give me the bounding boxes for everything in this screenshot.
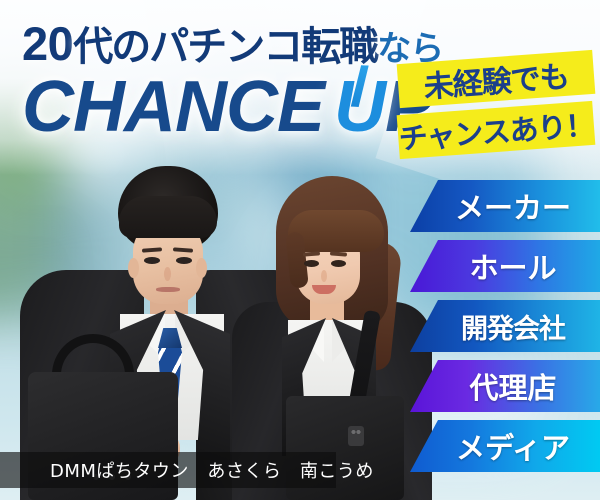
credit-bar: DMMぱちタウン あさくら 南こうめ [0, 452, 336, 488]
category-button-list: メーカー ホール 開発会社 代理店 メディア [410, 180, 600, 480]
category-button-hall[interactable]: ホール [410, 240, 600, 292]
recruitment-banner-ad[interactable]: 20代のパチンコ転職なら CHANCEUP 未経験でも チャンスあり！ メーカー… [0, 0, 600, 500]
category-button-agency[interactable]: 代理店 [410, 360, 600, 412]
people-photo-group [0, 130, 430, 500]
category-button-maker[interactable]: メーカー [410, 180, 600, 232]
headline-number: 20 [22, 17, 73, 70]
logo-letter-u: U [334, 67, 385, 147]
category-label-hall: ホール [453, 245, 556, 287]
chance-up-logo: CHANCEUP [22, 66, 432, 148]
logo-word-chance: CHANCE [22, 67, 324, 147]
category-label-agency: 代理店 [453, 365, 556, 407]
category-label-media: メディア [440, 425, 570, 467]
headline-main: 代のパチンコ転職 [73, 24, 377, 70]
category-label-maker: メーカー [439, 185, 571, 227]
credit-text: DMMぱちタウン あさくら 南こうめ [0, 457, 374, 483]
category-button-development-company[interactable]: 開発会社 [410, 300, 600, 352]
category-label-development-company: 開発会社 [445, 307, 565, 346]
headline-text: 20代のパチンコ転職なら [22, 14, 443, 72]
category-button-media[interactable]: メディア [410, 420, 600, 472]
